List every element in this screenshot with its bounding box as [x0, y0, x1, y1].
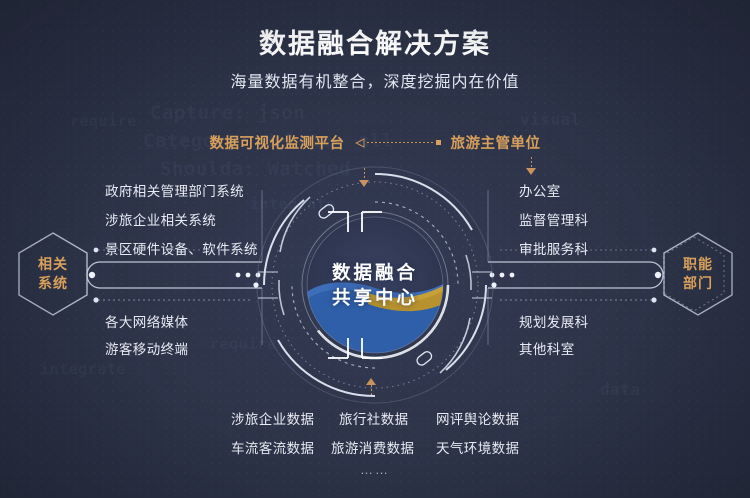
left-item-3[interactable]: 各大网络媒体 [105, 311, 188, 331]
data-fusion-hub[interactable]: 数据融合 共享中心 [250, 160, 500, 410]
hexagon-left-line1: 相关 [38, 256, 68, 272]
left-item-0[interactable]: 政府相关管理部门系统 [105, 180, 244, 200]
bottom-item-1-0[interactable]: 车流客流数据 [231, 437, 314, 457]
hexagon-right-line1: 职能 [683, 256, 713, 272]
hexagon-right-line2: 部门 [683, 275, 713, 291]
bottom-ellipsis: …… [0, 462, 750, 477]
bottom-item-0-0[interactable]: 涉旅企业数据 [231, 408, 314, 428]
right-item-1[interactable]: 监督管理科 [519, 209, 589, 229]
hexagon-left-line2: 系统 [38, 275, 68, 291]
right-item-4[interactable]: 其他科室 [519, 338, 575, 358]
infographic-canvas: Capture: json Category: delete: all Shou… [0, 0, 750, 498]
right-item-2[interactable]: 审批服务科 [519, 238, 589, 258]
bottom-item-0-2[interactable]: 网评舆论数据 [436, 408, 519, 428]
left-item-1[interactable]: 涉旅企业相关系统 [105, 209, 216, 229]
bottom-item-1-1[interactable]: 旅游消费数据 [331, 437, 414, 457]
left-item-4[interactable]: 游客移动终端 [105, 338, 188, 358]
right-item-0[interactable]: 办公室 [519, 180, 561, 200]
bottom-item-0-1[interactable]: 旅行社数据 [339, 408, 409, 428]
right-item-3[interactable]: 规划发展科 [519, 311, 589, 331]
bottom-item-1-2[interactable]: 天气环境数据 [436, 437, 519, 457]
left-item-2[interactable]: 景区硬件设备、软件系统 [105, 238, 258, 258]
